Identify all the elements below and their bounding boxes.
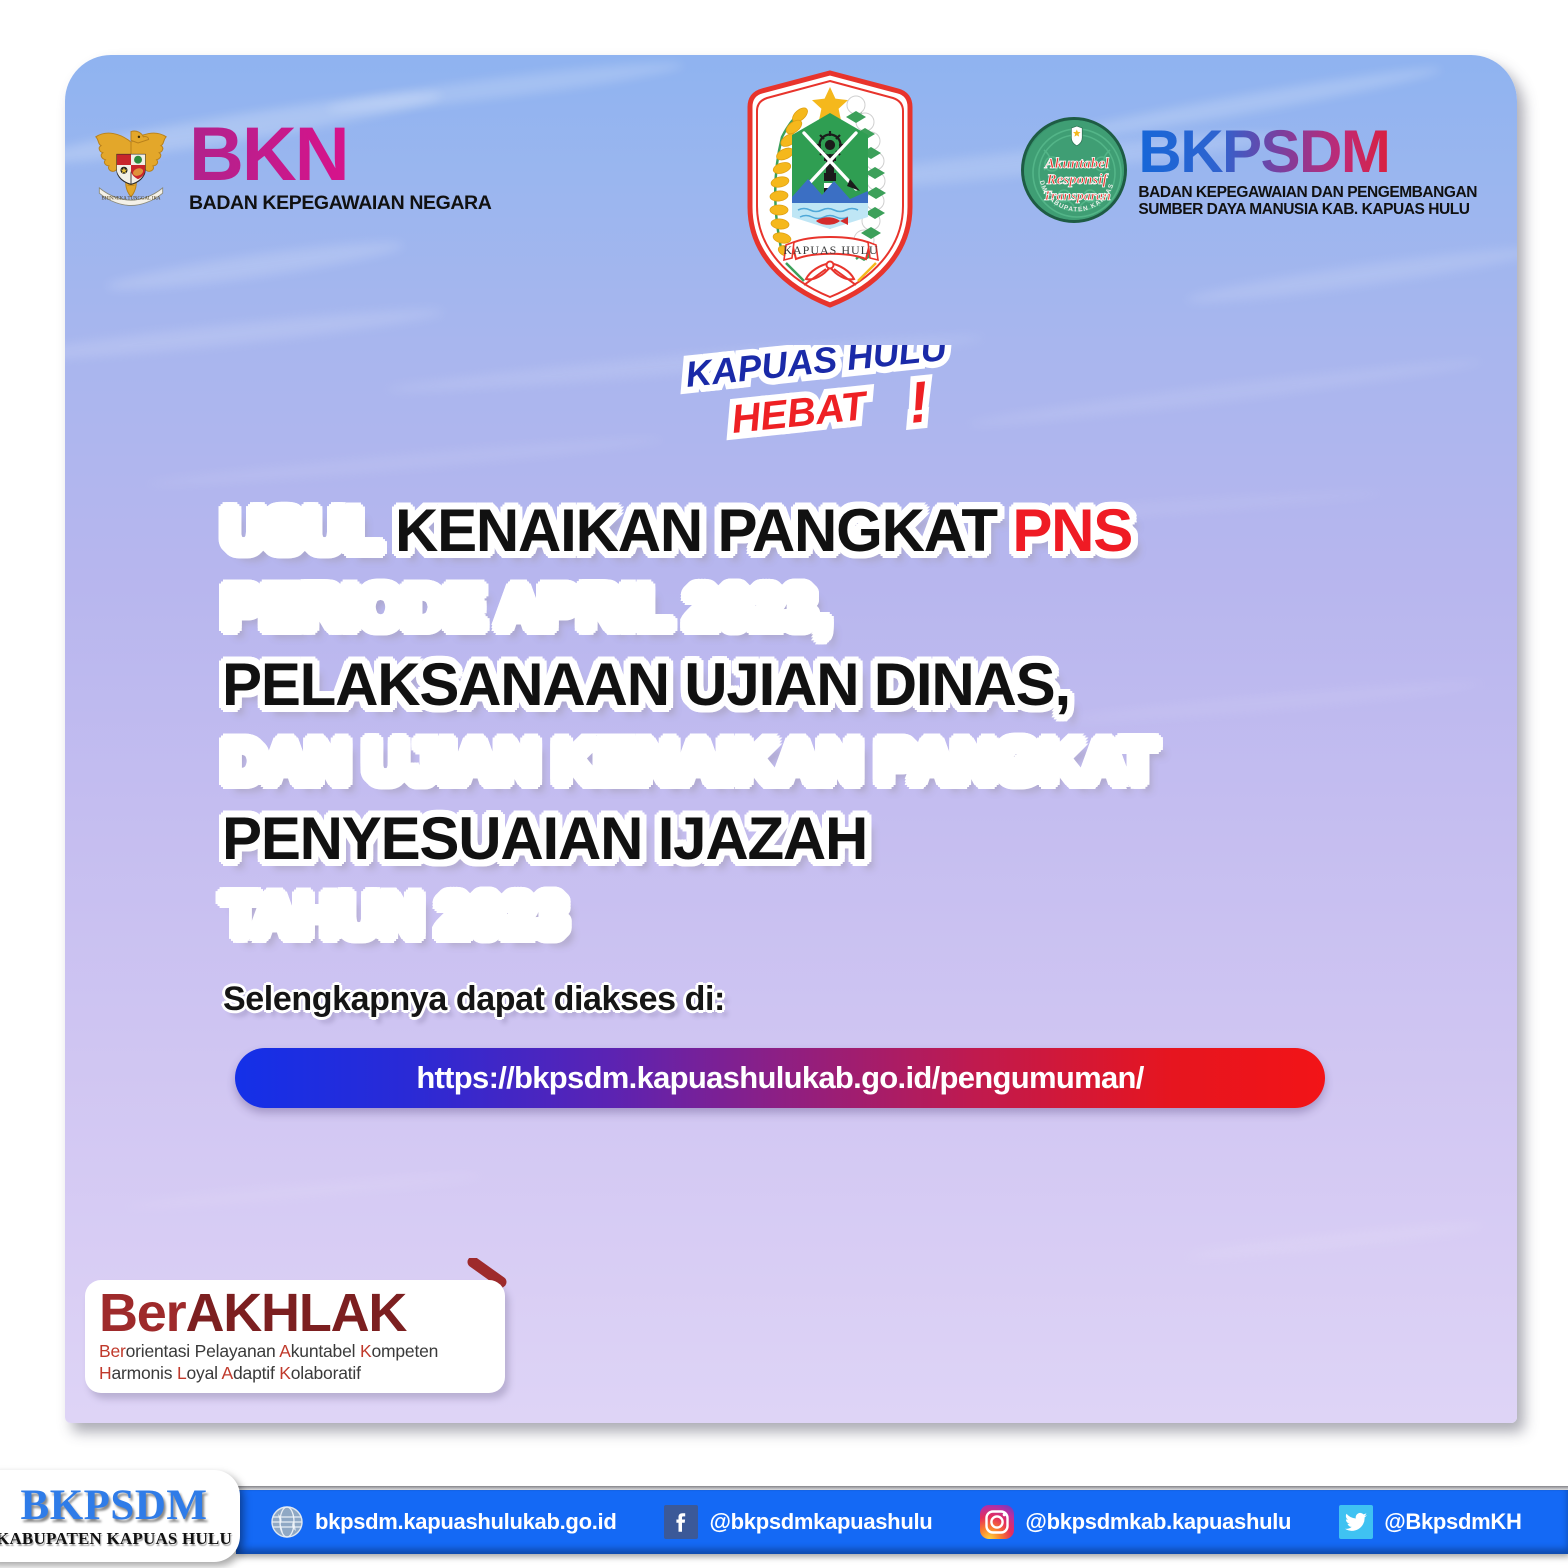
footer-item-website[interactable]: bkpsdm.kapuashulukab.go.id — [270, 1505, 616, 1539]
headline-line-3: PELAKSANAAN UJIAN DINAS, — [222, 649, 1512, 720]
tag-b4: H — [99, 1363, 111, 1383]
bkpsdm-logo: Akuntabel Responsif Transparan BKPSDM KA… — [1021, 117, 1477, 223]
footer-twitter-label: @BkpsdmKH — [1384, 1509, 1521, 1535]
tag-r7: olaboratif — [291, 1363, 361, 1383]
headline-pelaksanaan-ujian-dinas: PELAKSANAAN UJIAN DINAS, — [222, 651, 1070, 718]
headline-line-2: PERIODE APRIL 2023, — [222, 572, 1512, 643]
footer-item-instagram[interactable]: @bkpsdmkab.kapuashulu — [980, 1505, 1291, 1539]
tag-b2: A — [279, 1341, 290, 1361]
footer-website-label: bkpsdm.kapuashulukab.go.id — [315, 1509, 616, 1535]
footer-items: bkpsdm.kapuashulukab.go.id @bkpsdmkapuas… — [270, 1505, 1522, 1539]
headline-tahun-2023: TAHUN 2023 — [222, 882, 566, 949]
twitter-icon — [1339, 1505, 1373, 1539]
footer-brand-title: BKPSDM — [21, 1484, 208, 1527]
badge-line2: Responsif — [1046, 172, 1110, 188]
poster-card: BHINNEKA TUNGGAL IKA BKN BADAN KEPEGAWAI… — [65, 55, 1517, 1423]
akuntabel-responsif-transparan-badge-icon: Akuntabel Responsif Transparan BKPSDM KA… — [1021, 117, 1127, 223]
berakhlak-prefix: Ber — [99, 1283, 185, 1343]
svg-text:BHINNEKA TUNGGAL IKA: BHINNEKA TUNGGAL IKA — [101, 197, 161, 202]
tag-r2: kuntabel — [291, 1341, 360, 1361]
footer-item-twitter[interactable]: @BkpsdmKH — [1339, 1505, 1521, 1539]
headline-pns: PNS — [1012, 497, 1132, 564]
tag-r4: armonis — [111, 1363, 177, 1383]
headline-line-1: USUL KENAIKAN PANGKAT PNS — [222, 495, 1512, 566]
headline-penyesuaian-ijazah: PENYESUAIAN IJAZAH — [222, 805, 867, 872]
headline-block: USUL KENAIKAN PANGKAT PNS PERIODE APRIL … — [222, 495, 1512, 958]
headline-line-6: TAHUN 2023 — [222, 880, 1512, 951]
berakhlak-wordmark: BerAKHLAK — [99, 1283, 406, 1343]
bkpsdm-wordmark: BKPSDM — [1138, 122, 1477, 182]
headline-usul: USUL — [222, 497, 379, 564]
tag-r5: oyal — [187, 1363, 222, 1383]
announcement-url-pill[interactable]: https://bkpsdm.kapuashulukab.go.id/pengu… — [235, 1048, 1325, 1108]
facebook-icon — [664, 1505, 698, 1539]
kapuas-hulu-hebat-tagline: KAPUAS HULU HEBAT ! KAPUAS HULU HEBAT ! — [673, 345, 983, 455]
tag-b1: Ber — [99, 1341, 126, 1361]
instagram-icon — [980, 1505, 1014, 1539]
headline-line-5: PENYESUAIAN IJAZAH — [222, 803, 1512, 874]
headline-kenaikan-pangkat: KENAIKAN PANGKAT — [395, 497, 997, 564]
berakhlak-logo: BerAKHLAK Berorientasi Pelayanan Akuntab… — [85, 1280, 505, 1393]
bkpsdm-subtitle-line2: SUMBER DAYA MANUSIA KAB. KAPUAS HULU — [1138, 201, 1469, 218]
footer-social-bar: bkpsdm.kapuashulukab.go.id @bkpsdmkapuas… — [236, 1490, 1568, 1554]
headline-dan-ujian-kenaikan-pangkat: DAN UJIAN KENAIKAN PANGKAT — [222, 728, 1155, 795]
poster-header: BHINNEKA TUNGGAL IKA BKN BADAN KEPEGAWAI… — [65, 55, 1517, 365]
headline-april-2023: APRIL 2023, — [497, 574, 830, 641]
headline-line-4: DAN UJIAN KENAIKAN PANGKAT — [222, 726, 1512, 797]
announcement-url-text: https://bkpsdm.kapuashulukab.go.id/pengu… — [416, 1060, 1143, 1096]
bkn-subtitle: BADAN KEPEGAWAIAN NEGARA — [189, 194, 491, 214]
tag-b7: K — [279, 1363, 290, 1383]
footer-bar: bkpsdm.kapuashulukab.go.id @bkpsdmkapuas… — [0, 1460, 1568, 1568]
bkn-logo: BHINNEKA TUNGGAL IKA BKN BADAN KEPEGAWAI… — [87, 117, 491, 214]
subtitle-text: Selengkapnya dapat diakses di: — [223, 980, 725, 1019]
bkpsdm-subtitle-line1: BADAN KEPEGAWAIAN DAN PENGEMBANGAN — [1138, 184, 1477, 201]
svg-text:KAPUAS HULU: KAPUAS HULU — [783, 243, 878, 257]
footer-facebook-label: @bkpsdmkapuashulu — [709, 1509, 932, 1535]
tag-b5: L — [177, 1363, 187, 1383]
globe-icon — [270, 1505, 304, 1539]
tag-r6: daptif — [233, 1363, 279, 1383]
footer-instagram-label: @bkpsdmkab.kapuashulu — [1025, 1509, 1291, 1535]
garuda-pancasila-icon: BHINNEKA TUNGGAL IKA — [87, 119, 175, 211]
bkn-wordmark: BKN — [189, 117, 491, 193]
tag-r1: orientasi Pelayanan — [126, 1341, 280, 1361]
hebat-line2: HEBAT — [729, 384, 871, 442]
footer-item-facebook[interactable]: @bkpsdmkapuashulu — [664, 1505, 932, 1539]
hebat-exclaim: ! — [906, 369, 932, 436]
badge-line1: Akuntabel — [1044, 156, 1110, 172]
berakhlak-main: AKHLAK — [185, 1283, 406, 1343]
tag-b6: A — [222, 1363, 233, 1383]
headline-periode: PERIODE — [222, 574, 484, 641]
footer-brand-tab: BKPSDM KABUPATEN KAPUAS HULU — [0, 1470, 240, 1562]
kapuas-hulu-emblem: KAPUAS HULU — [705, 67, 955, 317]
tag-r3: ompeten — [371, 1341, 438, 1361]
berakhlak-tagline: Berorientasi Pelayanan Akuntabel Kompete… — [99, 1341, 438, 1383]
footer-brand-subtitle: KABUPATEN KAPUAS HULU — [0, 1529, 232, 1549]
tag-b3: K — [360, 1341, 371, 1361]
kapuas-hulu-coat-of-arms-icon: KAPUAS HULU — [730, 299, 930, 316]
